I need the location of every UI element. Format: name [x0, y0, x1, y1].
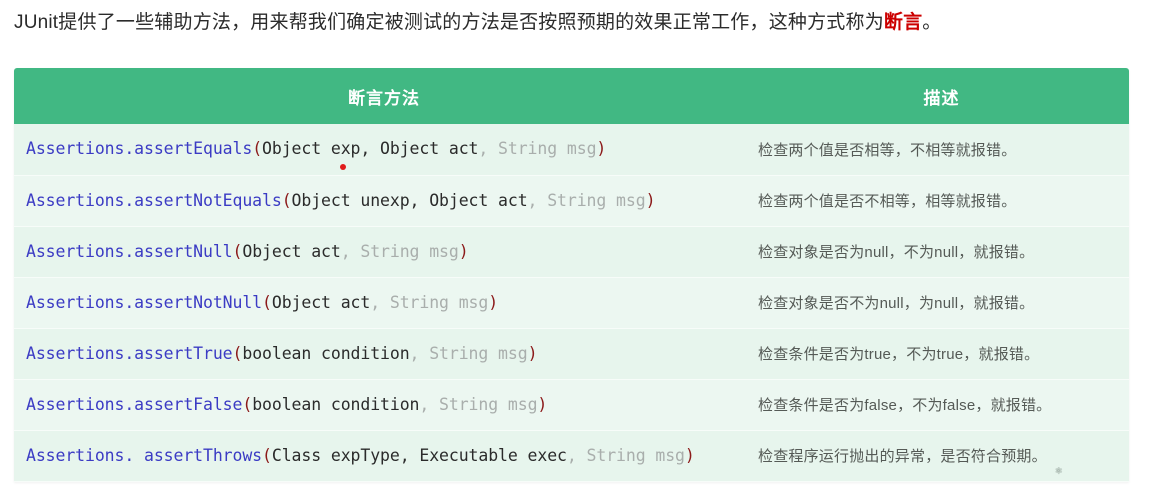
sig-args: Object exp, Object act	[262, 139, 478, 158]
sig-optional: , String msg	[341, 242, 459, 261]
method-signature: Assertions.assertEquals(Object exp, Obje…	[26, 139, 606, 158]
intro-text-after: 。	[922, 12, 941, 33]
sig-close: )	[528, 344, 538, 363]
sig-optional: , String msg	[419, 395, 537, 414]
table-header-row: 断言方法 描述	[14, 68, 1129, 124]
method-signature: Assertions.assertNull(Object act, String…	[26, 242, 469, 261]
method-signature: Assertions. assertThrows(Class expType, …	[26, 446, 695, 465]
method-signature: Assertions.assertTrue(boolean condition,…	[26, 344, 537, 363]
sig-args: boolean condition	[242, 344, 409, 363]
sig-args: Object act	[272, 293, 370, 312]
method-signature: Assertions.assertFalse(boolean condition…	[26, 395, 547, 414]
sig-open: (	[252, 139, 262, 158]
sig-close: )	[685, 446, 695, 465]
sig-close: )	[646, 191, 656, 210]
table-row: Assertions.assertTrue(boolean condition,…	[14, 328, 1129, 379]
method-signature: Assertions.assertNotNull(Object act, Str…	[26, 293, 498, 312]
sig-optional: , String msg	[478, 139, 596, 158]
cell-description: 检查两个值是否相等，不相等就报错。	[754, 124, 1129, 175]
sig-args: boolean condition	[252, 395, 419, 414]
table-row: Assertions.assertFalse(boolean condition…	[14, 379, 1129, 430]
cell-method-signature: Assertions.assertEquals(Object exp, Obje…	[14, 124, 754, 175]
sig-name: Assertions.assertEquals	[26, 139, 252, 158]
cell-method-signature: Assertions. assertThrows(Class expType, …	[14, 430, 754, 481]
sig-open: (	[233, 344, 243, 363]
sig-close: )	[596, 139, 606, 158]
column-header-description: 描述	[754, 68, 1129, 124]
assertions-table-container: 断言方法 描述 Assertions.assertEquals(Object e…	[14, 68, 1129, 482]
cell-method-signature: Assertions.assertNotNull(Object act, Str…	[14, 277, 754, 328]
sig-close: )	[459, 242, 469, 261]
cell-description: 检查对象是否不为null，为null，就报错。	[754, 277, 1129, 328]
cell-description: 检查两个值是否不相等，相等就报错。	[754, 175, 1129, 226]
cell-method-signature: Assertions.assertNull(Object act, String…	[14, 226, 754, 277]
sig-name: Assertions.assertTrue	[26, 344, 233, 363]
cell-description: 检查程序运行抛出的异常，是否符合预期。	[754, 430, 1129, 481]
sig-open: (	[282, 191, 292, 210]
sig-name: Assertions.assertNotEquals	[26, 191, 282, 210]
table-row: Assertions. assertThrows(Class expType, …	[14, 430, 1129, 481]
cell-description: 检查对象是否为null，不为null，就报错。	[754, 226, 1129, 277]
method-signature: Assertions.assertNotEquals(Object unexp,…	[26, 191, 655, 210]
sig-args: Class expType, Executable exec	[272, 446, 567, 465]
sig-open: (	[242, 395, 252, 414]
sig-open: (	[233, 242, 243, 261]
red-dot-marker	[340, 164, 346, 170]
sig-optional: , String msg	[410, 344, 528, 363]
sig-close: )	[537, 395, 547, 414]
sig-optional: , String msg	[528, 191, 646, 210]
column-header-method: 断言方法	[14, 68, 754, 124]
cell-description: 检查条件是否为false，不为false，就报错。	[754, 379, 1129, 430]
table-body: Assertions.assertEquals(Object exp, Obje…	[14, 124, 1129, 481]
intro-highlight-term: 断言	[884, 12, 922, 33]
sig-optional: , String msg	[567, 446, 685, 465]
sig-close: )	[488, 293, 498, 312]
sig-args: Object act	[242, 242, 340, 261]
table-row: Assertions.assertNotNull(Object act, Str…	[14, 277, 1129, 328]
table-row: Assertions.assertEquals(Object exp, Obje…	[14, 124, 1129, 175]
sig-name: Assertions.assertNotNull	[26, 293, 262, 312]
sig-name: Assertions. assertThrows	[26, 446, 262, 465]
table-row: Assertions.assertNotEquals(Object unexp,…	[14, 175, 1129, 226]
gear-icon[interactable]	[1054, 462, 1063, 471]
sig-name: Assertions.assertFalse	[26, 395, 242, 414]
cell-method-signature: Assertions.assertNotEquals(Object unexp,…	[14, 175, 754, 226]
intro-text-before: JUnit提供了一些辅助方法，用来帮我们确定被测试的方法是否按照预期的效果正常工…	[14, 12, 884, 33]
intro-paragraph: JUnit提供了一些辅助方法，用来帮我们确定被测试的方法是否按照预期的效果正常工…	[14, 9, 1139, 37]
sig-open: (	[262, 293, 272, 312]
cell-method-signature: Assertions.assertTrue(boolean condition,…	[14, 328, 754, 379]
sig-open: (	[262, 446, 272, 465]
sig-args: Object unexp, Object act	[292, 191, 528, 210]
cell-method-signature: Assertions.assertFalse(boolean condition…	[14, 379, 754, 430]
assertions-table: 断言方法 描述 Assertions.assertEquals(Object e…	[14, 68, 1129, 482]
cell-description: 检查条件是否为true，不为true，就报错。	[754, 328, 1129, 379]
sig-name: Assertions.assertNull	[26, 242, 233, 261]
sig-optional: , String msg	[370, 293, 488, 312]
table-row: Assertions.assertNull(Object act, String…	[14, 226, 1129, 277]
table-header: 断言方法 描述	[14, 68, 1129, 124]
